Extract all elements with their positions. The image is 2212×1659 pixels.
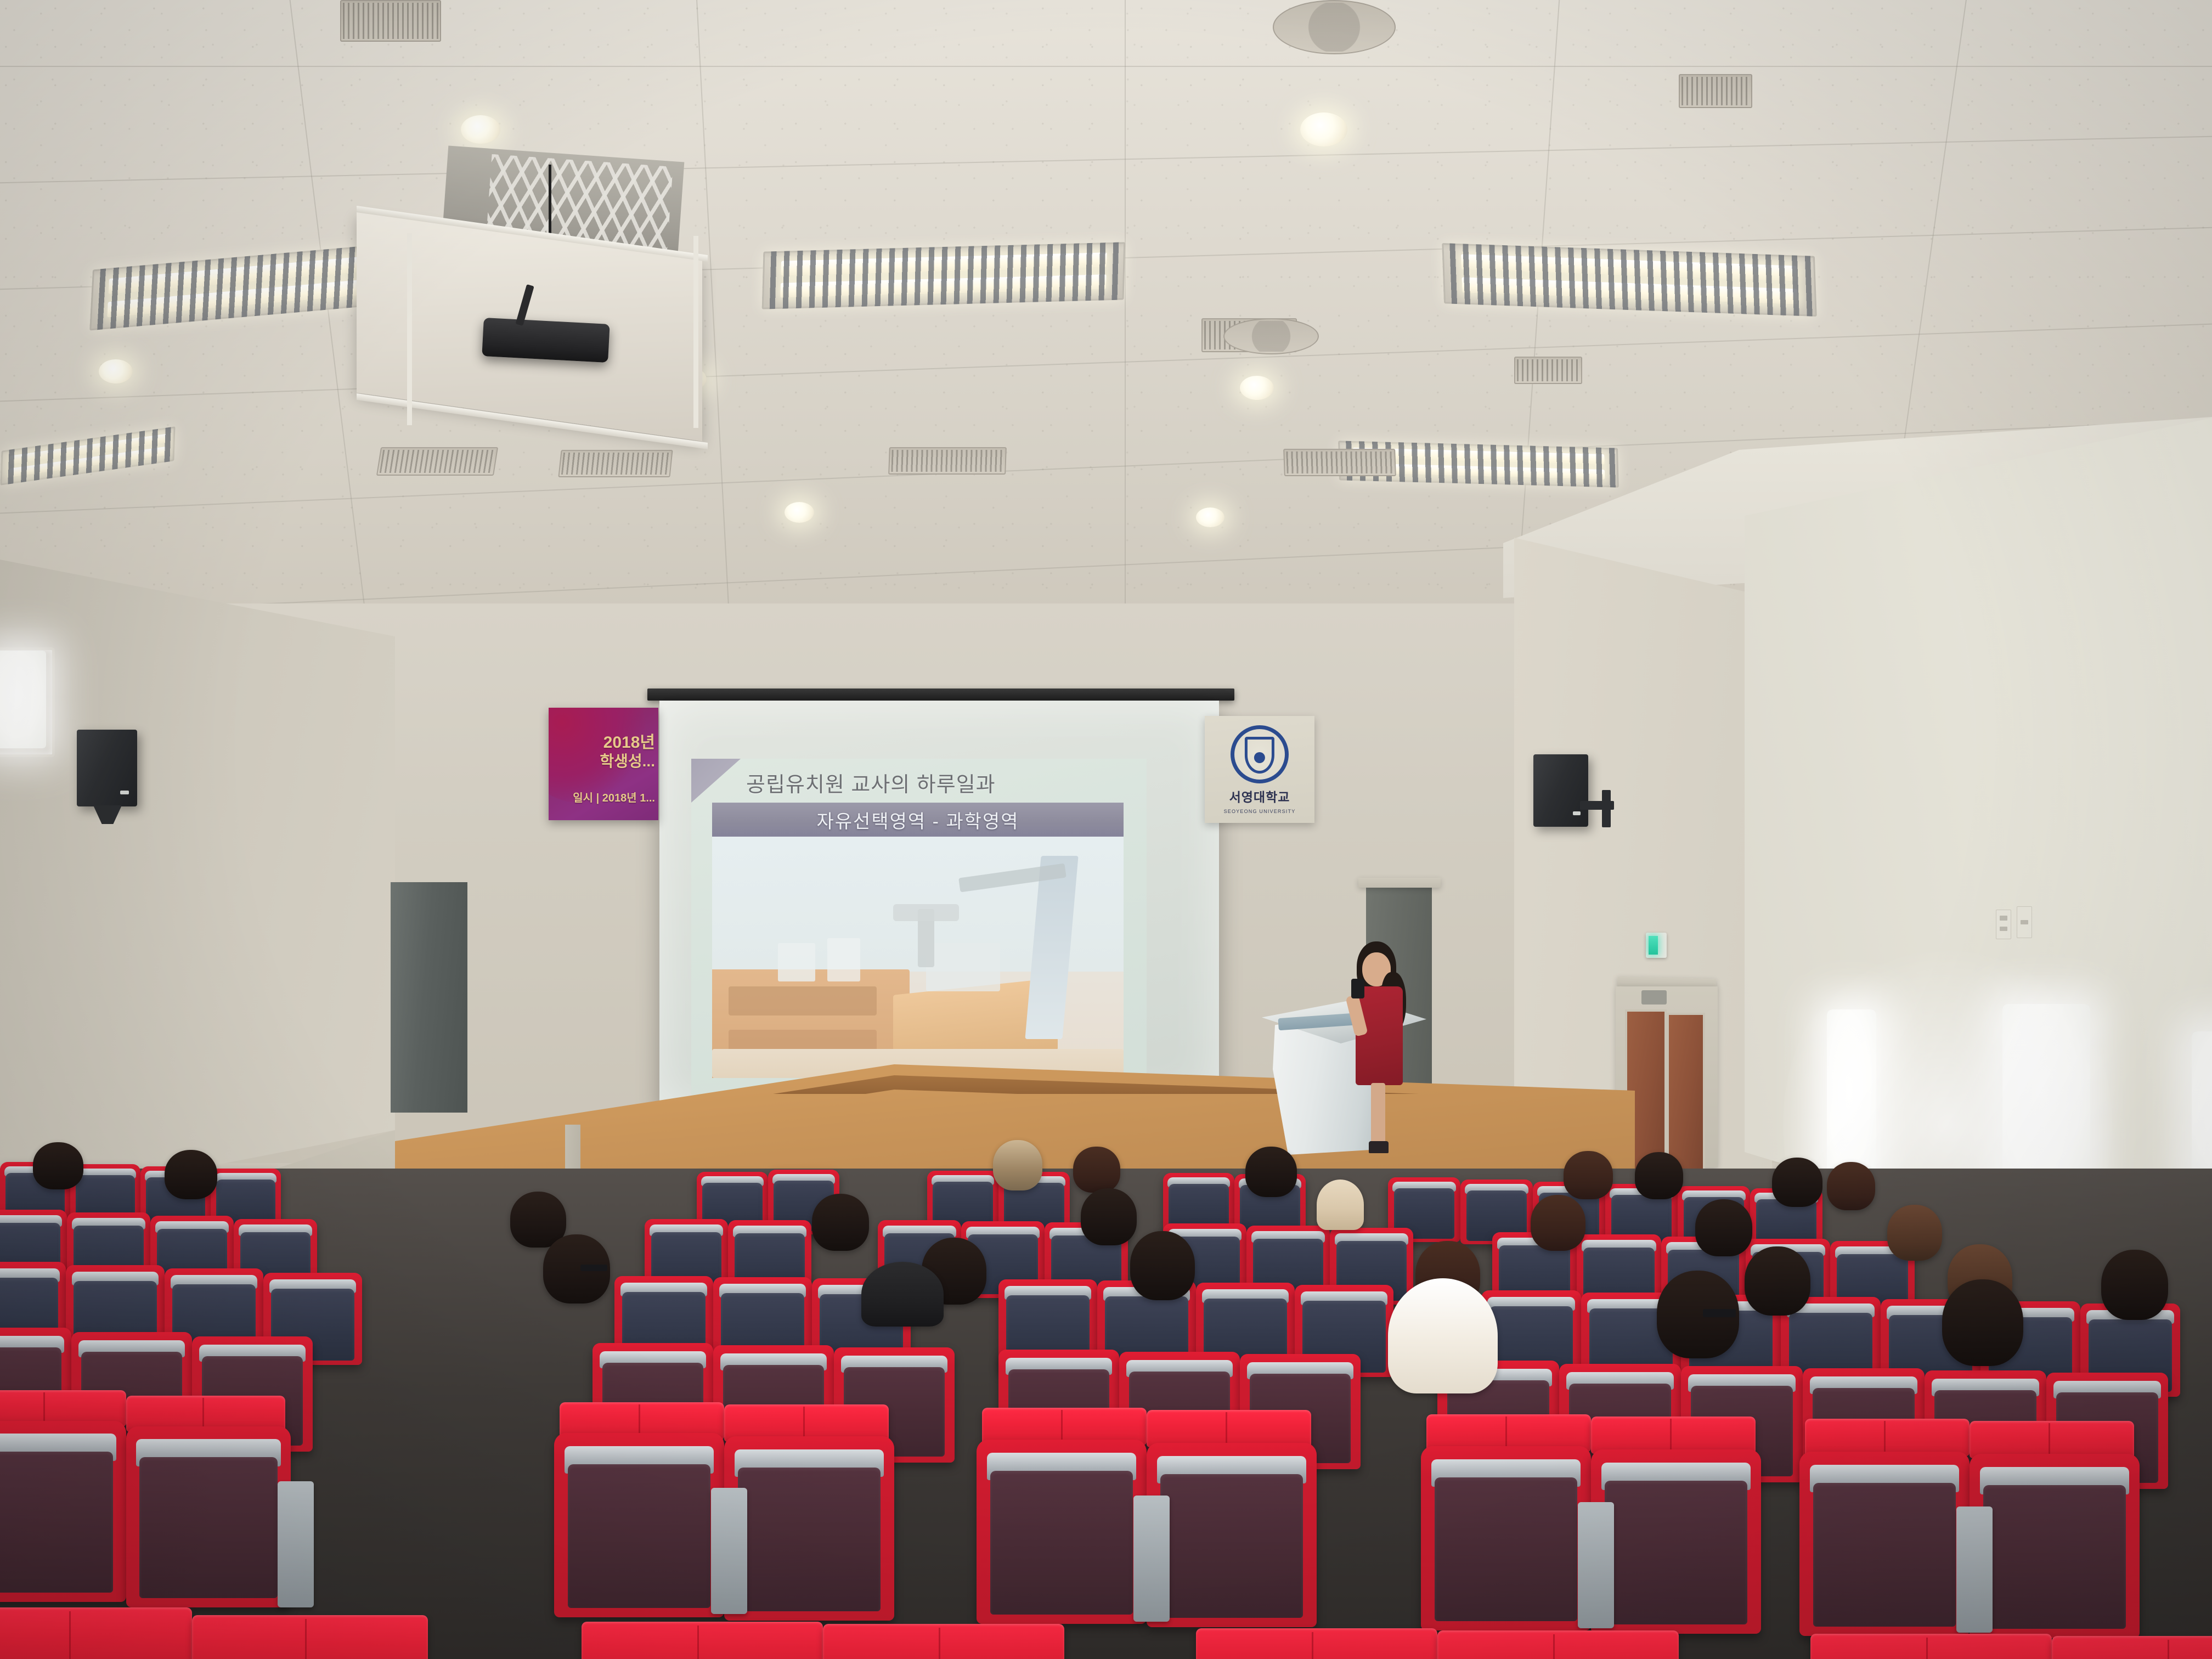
seat[interactable] xyxy=(724,1436,894,1621)
ceiling-diffuser xyxy=(1273,0,1396,54)
photo-jar xyxy=(778,943,815,981)
ceiling-downlight xyxy=(99,359,133,383)
presenter xyxy=(1347,941,1424,1155)
audience-head xyxy=(812,1194,869,1251)
wall-outlet[interactable] xyxy=(1996,910,2011,939)
exit-door-right[interactable] xyxy=(1667,1013,1705,1173)
university-seal-icon xyxy=(1231,725,1289,783)
door-closer xyxy=(1641,990,1667,1005)
auditorium-photo: 공립유치원 교사의 하루일과 자유선택영역 - 과학영역 xyxy=(0,0,2212,1659)
seat-cushion[interactable] xyxy=(1437,1630,1679,1659)
ceiling-vent xyxy=(558,450,673,477)
slide-banner-text: 자유선택영역 - 과학영역 xyxy=(816,806,1019,833)
ceiling-downlight xyxy=(785,502,814,523)
audience-head xyxy=(1635,1152,1683,1199)
university-banner-right: 서영대학교 SEOYEONG UNIVERSITY xyxy=(1205,716,1314,823)
right-wall xyxy=(1745,417,2212,1295)
presenter-shoe xyxy=(1369,1141,1389,1153)
microphone[interactable] xyxy=(1351,979,1364,998)
audience-head xyxy=(543,1234,610,1304)
audience-head xyxy=(1073,1147,1120,1193)
presenter-leg xyxy=(1371,1083,1385,1144)
seat-cushion[interactable] xyxy=(192,1615,428,1659)
presenter-dress xyxy=(1356,986,1403,1085)
seat[interactable] xyxy=(977,1440,1147,1624)
ceiling-tile-line xyxy=(0,66,2212,67)
ceiling-vent xyxy=(376,447,498,476)
ceiling-downlight xyxy=(1300,112,1347,146)
rear-left-doorway[interactable] xyxy=(391,882,467,1113)
seat[interactable] xyxy=(0,1421,126,1602)
audience-head xyxy=(1245,1147,1297,1197)
seat-cushion[interactable] xyxy=(1196,1628,1437,1659)
left-window xyxy=(0,651,46,748)
right-speaker-bracket xyxy=(1602,790,1611,827)
audience-head xyxy=(2101,1250,2168,1320)
university-name-en: SEOYEONG UNIVERSITY xyxy=(1224,809,1296,814)
ceiling-downlight xyxy=(1196,507,1224,527)
emergency-exit-sign xyxy=(1646,933,1667,958)
seat-cushion[interactable] xyxy=(823,1624,1064,1659)
seat-cushion[interactable] xyxy=(1970,1421,2134,1458)
ceiling-tile-seam xyxy=(1125,0,1126,647)
seat-cushion[interactable] xyxy=(582,1622,823,1659)
seat-cushion[interactable] xyxy=(1147,1410,1311,1447)
left-wall-speaker xyxy=(77,730,137,806)
university-name-ko: 서영대학교 xyxy=(1229,787,1290,805)
audience-head xyxy=(1772,1158,1822,1207)
seat[interactable] xyxy=(126,1426,291,1607)
armrest xyxy=(711,1488,747,1614)
photo-tray xyxy=(926,943,1000,991)
audience-head xyxy=(1081,1188,1137,1245)
seat[interactable] xyxy=(554,1433,724,1617)
banner-line-3: 일시 | 2018년 1... xyxy=(573,789,655,805)
right-wall-speaker xyxy=(1533,754,1588,827)
event-banner-left: 2018년 학생성... 일시 | 2018년 1... xyxy=(549,708,658,820)
seat[interactable] xyxy=(1147,1443,1317,1627)
audience-head xyxy=(1531,1195,1585,1251)
photo-jar xyxy=(827,938,860,981)
seat[interactable] xyxy=(1421,1446,1591,1630)
ceiling-downlight xyxy=(461,115,500,144)
audience-head xyxy=(993,1140,1042,1190)
photo-lamp-head xyxy=(893,904,959,921)
seat-cushion[interactable] xyxy=(2052,1636,2212,1659)
photo-shelf-line xyxy=(729,986,877,1015)
audience-head xyxy=(1745,1246,1810,1316)
audience-head xyxy=(1130,1231,1195,1300)
ceiling-downlight xyxy=(1240,376,1274,400)
seat[interactable] xyxy=(1799,1452,1970,1636)
audience-head-hijab xyxy=(1388,1278,1498,1393)
seat-cushion[interactable] xyxy=(0,1607,192,1659)
right-window-edge xyxy=(2192,1031,2212,1190)
projected-slide: 공립유치원 교사의 하루일과 자유선택영역 - 과학영역 xyxy=(691,759,1147,1099)
projector-hanger-rod xyxy=(693,236,698,428)
armrest xyxy=(278,1481,314,1607)
seat-cushion[interactable] xyxy=(1805,1419,1970,1456)
audience-head xyxy=(1827,1162,1875,1210)
banner-line-2: 학생성... xyxy=(600,749,655,771)
projector-hanger-rod xyxy=(407,233,412,425)
projection-screen-assembly: 공립유치원 교사의 하루일과 자유선택영역 - 과학영역 xyxy=(647,689,1234,1122)
projector-body xyxy=(482,318,610,363)
seat-cushion[interactable] xyxy=(1810,1634,2052,1659)
seat[interactable] xyxy=(1970,1454,2140,1638)
slide-title: 공립유치원 교사의 하루일과 xyxy=(746,768,996,798)
ceiling-light-fixture xyxy=(762,242,1126,309)
audience-head xyxy=(1942,1279,2023,1366)
armrest xyxy=(1956,1506,1993,1633)
audience-head xyxy=(1887,1205,1942,1261)
ceiling-vent xyxy=(888,447,1007,475)
seat[interactable] xyxy=(1591,1449,1761,1634)
audience-head xyxy=(165,1150,217,1199)
ceiling-vent xyxy=(1514,357,1582,384)
light-switch[interactable] xyxy=(2017,906,2032,938)
audience-head-cap xyxy=(861,1262,944,1327)
audience-head xyxy=(33,1142,83,1189)
ceiling-vent xyxy=(1283,449,1396,476)
ceiling-diffuser xyxy=(1223,318,1319,354)
armrest xyxy=(1578,1502,1614,1628)
seat-cushion[interactable] xyxy=(1591,1417,1756,1454)
audience-head xyxy=(1657,1271,1739,1358)
ceiling-vent xyxy=(340,0,441,42)
audience-head-with-hat xyxy=(1317,1180,1364,1230)
ceiling-vent xyxy=(1679,74,1752,108)
slide-section-banner: 자유선택영역 - 과학영역 xyxy=(712,803,1124,837)
left-wall xyxy=(0,560,395,1207)
stage-door-header xyxy=(1358,878,1441,888)
slide-corner-accent xyxy=(691,759,741,803)
screen-case xyxy=(647,689,1234,701)
armrest xyxy=(1133,1496,1170,1622)
slide-photo xyxy=(712,837,1124,1078)
audience-head xyxy=(1564,1151,1613,1199)
audience-head xyxy=(1695,1199,1752,1256)
